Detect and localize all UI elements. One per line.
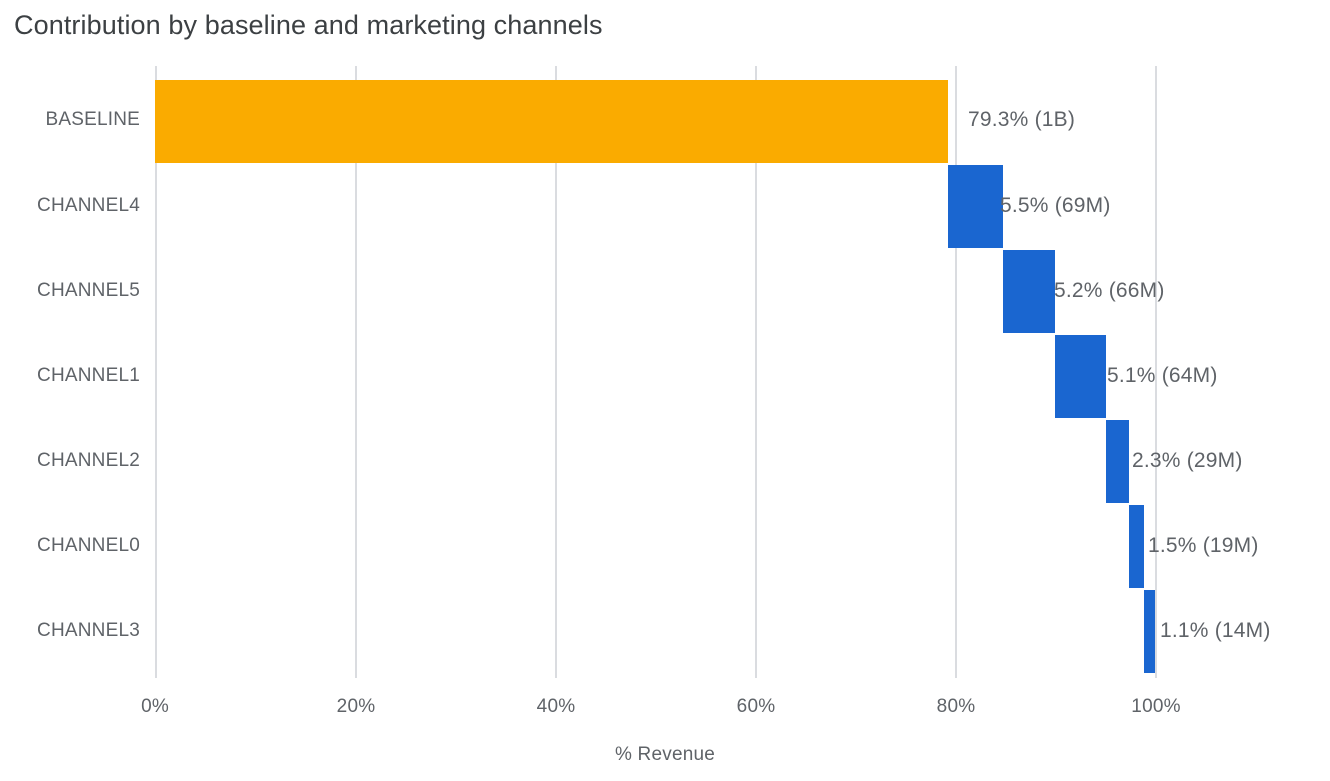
y-axis-label-channel1: CHANNEL1 <box>0 365 140 387</box>
gridline-80 <box>955 66 957 678</box>
x-axis-title: % Revenue <box>0 744 1330 766</box>
waterfall-chart: Contribution by baseline and marketing c… <box>0 0 1330 781</box>
x-axis-tick-60: 60% <box>737 695 776 719</box>
data-label-baseline: 79.3% (1B) <box>968 108 1075 132</box>
bar-channel2[interactable] <box>1106 420 1129 503</box>
x-axis-tick-0: 0% <box>141 695 169 719</box>
data-label-channel4: 5.5% (69M) <box>1000 194 1111 218</box>
plot-area <box>155 66 1155 678</box>
y-axis-label-channel2: CHANNEL2 <box>0 450 140 472</box>
y-axis-label-channel5: CHANNEL5 <box>0 280 140 302</box>
bar-channel4[interactable] <box>948 165 1003 248</box>
data-label-channel1: 5.1% (64M) <box>1107 364 1218 388</box>
y-axis-label-channel4: CHANNEL4 <box>0 195 140 217</box>
x-axis-tick-20: 20% <box>337 695 376 719</box>
bar-channel5[interactable] <box>1003 250 1055 333</box>
bar-channel3[interactable] <box>1144 590 1155 673</box>
chart-title: Contribution by baseline and marketing c… <box>14 6 603 44</box>
x-axis-tick-40: 40% <box>537 695 576 719</box>
y-axis-label-baseline: BASELINE <box>0 109 140 131</box>
bar-baseline[interactable] <box>155 80 948 163</box>
bar-channel1[interactable] <box>1055 335 1106 418</box>
data-label-channel2: 2.3% (29M) <box>1132 449 1243 473</box>
data-label-channel5: 5.2% (66M) <box>1054 279 1165 303</box>
bar-channel0[interactable] <box>1129 505 1144 588</box>
data-label-channel0: 1.5% (19M) <box>1148 534 1259 558</box>
y-axis-label-channel0: CHANNEL0 <box>0 535 140 557</box>
x-axis-tick-80: 80% <box>937 695 976 719</box>
x-axis-tick-100: 100% <box>1131 695 1180 719</box>
y-axis-label-channel3: CHANNEL3 <box>0 620 140 642</box>
data-label-channel3: 1.1% (14M) <box>1160 619 1271 643</box>
